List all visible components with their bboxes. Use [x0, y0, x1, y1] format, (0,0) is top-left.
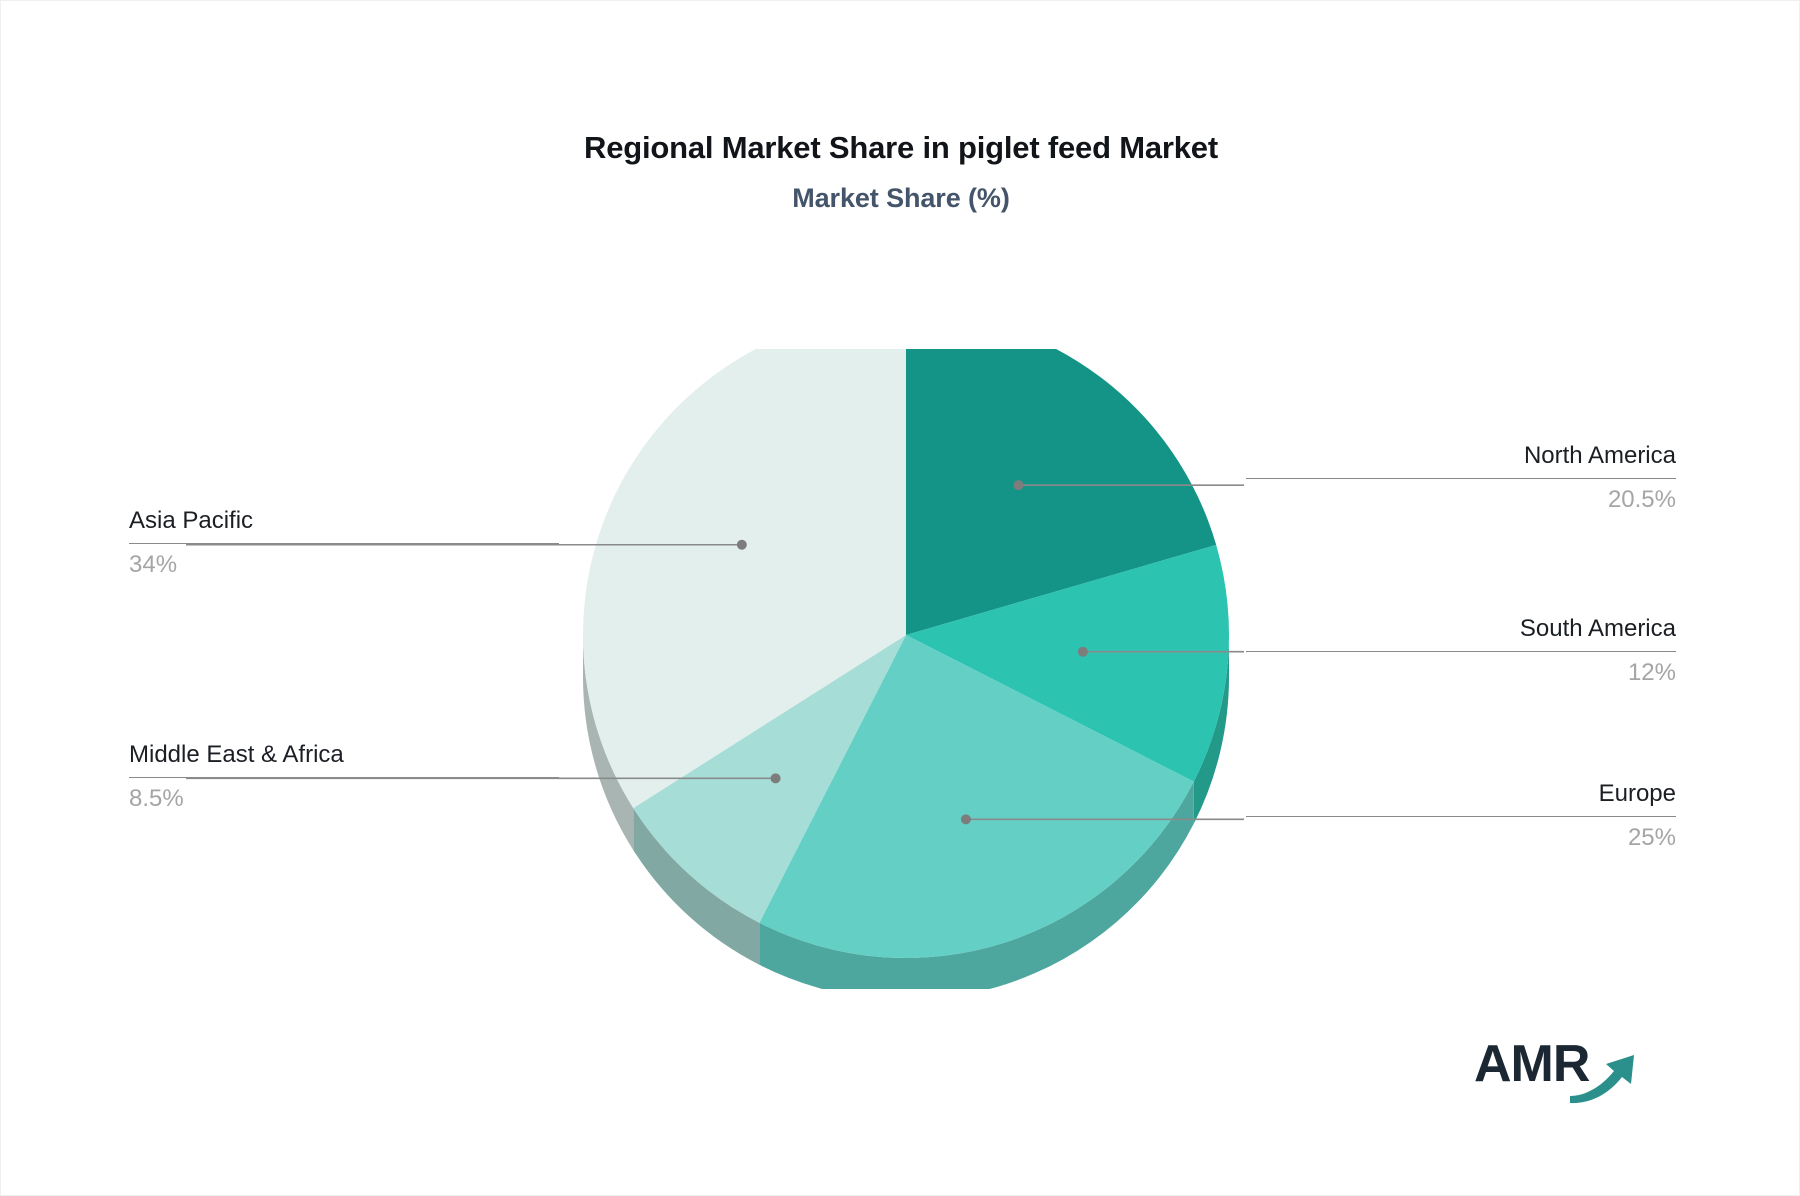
chart-header: Regional Market Share in piglet feed Mar…	[1, 129, 1800, 216]
callout-value: 8.5%	[129, 784, 559, 814]
callout-label: Europe	[1246, 779, 1676, 809]
callout-asia-pacific[interactable]: Asia Pacific 34%	[129, 506, 559, 580]
pie-chart	[556, 349, 1256, 989]
callout-value: 34%	[129, 550, 559, 580]
callout-rule	[129, 777, 559, 778]
callout-value: 12%	[1246, 658, 1676, 688]
amr-logo-wordmark: AMR	[1474, 1035, 1590, 1093]
callout-label: Asia Pacific	[129, 506, 559, 536]
callout-south-america[interactable]: South America 12%	[1246, 614, 1676, 688]
callout-rule	[1246, 816, 1676, 817]
page-title: Regional Market Share in piglet feed Mar…	[1, 129, 1800, 168]
callout-europe[interactable]: Europe 25%	[1246, 779, 1676, 853]
callout-label: North America	[1246, 441, 1676, 471]
chart-canvas: Regional Market Share in piglet feed Mar…	[0, 0, 1800, 1196]
callout-label: South America	[1246, 614, 1676, 644]
callout-rule	[1246, 478, 1676, 479]
callout-label: Middle East & Africa	[129, 740, 559, 770]
callout-north-america[interactable]: North America 20.5%	[1246, 441, 1676, 515]
chart-subtitle: Market Share (%)	[1, 182, 1800, 216]
amr-logo: AMR	[1474, 1033, 1649, 1105]
callout-value: 25%	[1246, 823, 1676, 853]
callout-rule	[1246, 651, 1676, 652]
callout-rule	[129, 543, 559, 544]
amr-logo-svg: AMR	[1474, 1033, 1649, 1105]
pie-chart-svg	[556, 349, 1256, 989]
callout-value: 20.5%	[1246, 485, 1676, 515]
callout-middle-east-africa[interactable]: Middle East & Africa 8.5%	[129, 740, 559, 814]
